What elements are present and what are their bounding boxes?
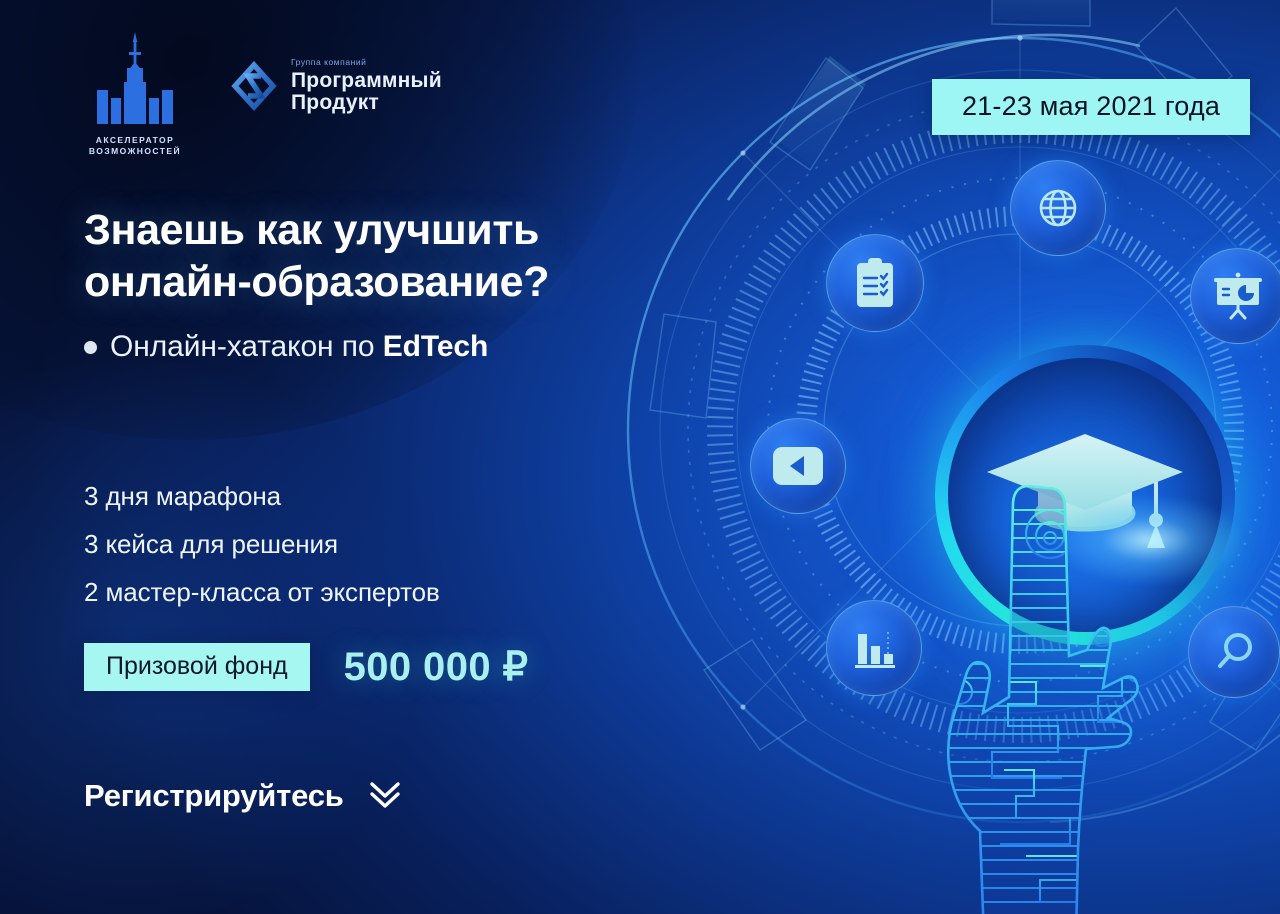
pp-logo-text: Группа компаний Программный Продукт (291, 58, 442, 114)
programmny-produkt-logo: Группа компаний Программный Продукт (228, 32, 442, 114)
graduation-cap-icon (935, 345, 1235, 645)
prize-fund-amount: 500 000 ₽ (344, 644, 529, 690)
pp-name-line2: Продукт (291, 92, 442, 114)
subtitle-text: Онлайн-хатакон по EdTech (110, 330, 488, 364)
pp-name-line1: Программный (291, 70, 442, 92)
facts-list: 3 дня марафона 3 кейса для решения 2 мас… (84, 472, 440, 616)
prize-fund-block: Призовой фонд 500 000 ₽ (84, 643, 528, 691)
video-play-icon (750, 418, 846, 514)
event-date-badge: 21-23 мая 2021 года (932, 79, 1250, 135)
prize-fund-badge: Призовой фонд (84, 643, 310, 691)
search-icon (1188, 606, 1280, 698)
list-item: 3 дня марафона (84, 472, 440, 520)
subtitle-row: Онлайн-хатакон по EdTech (84, 330, 704, 364)
globe-icon (1010, 160, 1106, 256)
msu-logo-caption: АКСЕЛЕРАТОР ВОЗМОЖНОСТЕЙ (89, 135, 181, 158)
clipboard-icon (826, 234, 924, 332)
page-title: Знаешь как улучшить онлайн-образование? (84, 205, 704, 308)
subtitle-prefix: Онлайн-хатакон по (110, 330, 383, 363)
pp-kicker: Группа компаний (291, 58, 442, 67)
background-glow-left (0, 360, 440, 914)
register-cta[interactable]: Регистрируйтесь (84, 776, 404, 815)
list-item: 2 мастер-класса от экспертов (84, 568, 440, 616)
msu-accelerator-logo: АКСЕЛЕРАТОР ВОЗМОЖНОСТЕЙ (80, 32, 190, 158)
bullet-dot-icon (84, 341, 97, 354)
register-cta-label: Регистрируйтесь (84, 778, 344, 814)
list-item: 3 кейса для решения (84, 520, 440, 568)
headline-block: Знаешь как улучшить онлайн-образование? … (84, 205, 704, 364)
msu-caption-line2: ВОЗМОЖНОСТЕЙ (89, 146, 181, 157)
presentation-icon (1190, 248, 1280, 344)
subtitle-highlight: EdTech (383, 330, 489, 363)
promo-banner: АКСЕЛЕРАТОР ВОЗМОЖНОСТЕЙ Г (0, 0, 1280, 914)
logo-row: АКСЕЛЕРАТОР ВОЗМОЖНОСТЕЙ Г (80, 32, 442, 158)
center-medallion (935, 345, 1235, 645)
bar-chart-icon (826, 600, 922, 696)
double-chevron-down-icon[interactable] (366, 776, 404, 815)
msu-building-icon (83, 32, 187, 128)
msu-caption-line1: АКСЕЛЕРАТОР (89, 135, 181, 146)
pp-diamond-logo-icon (228, 60, 280, 112)
